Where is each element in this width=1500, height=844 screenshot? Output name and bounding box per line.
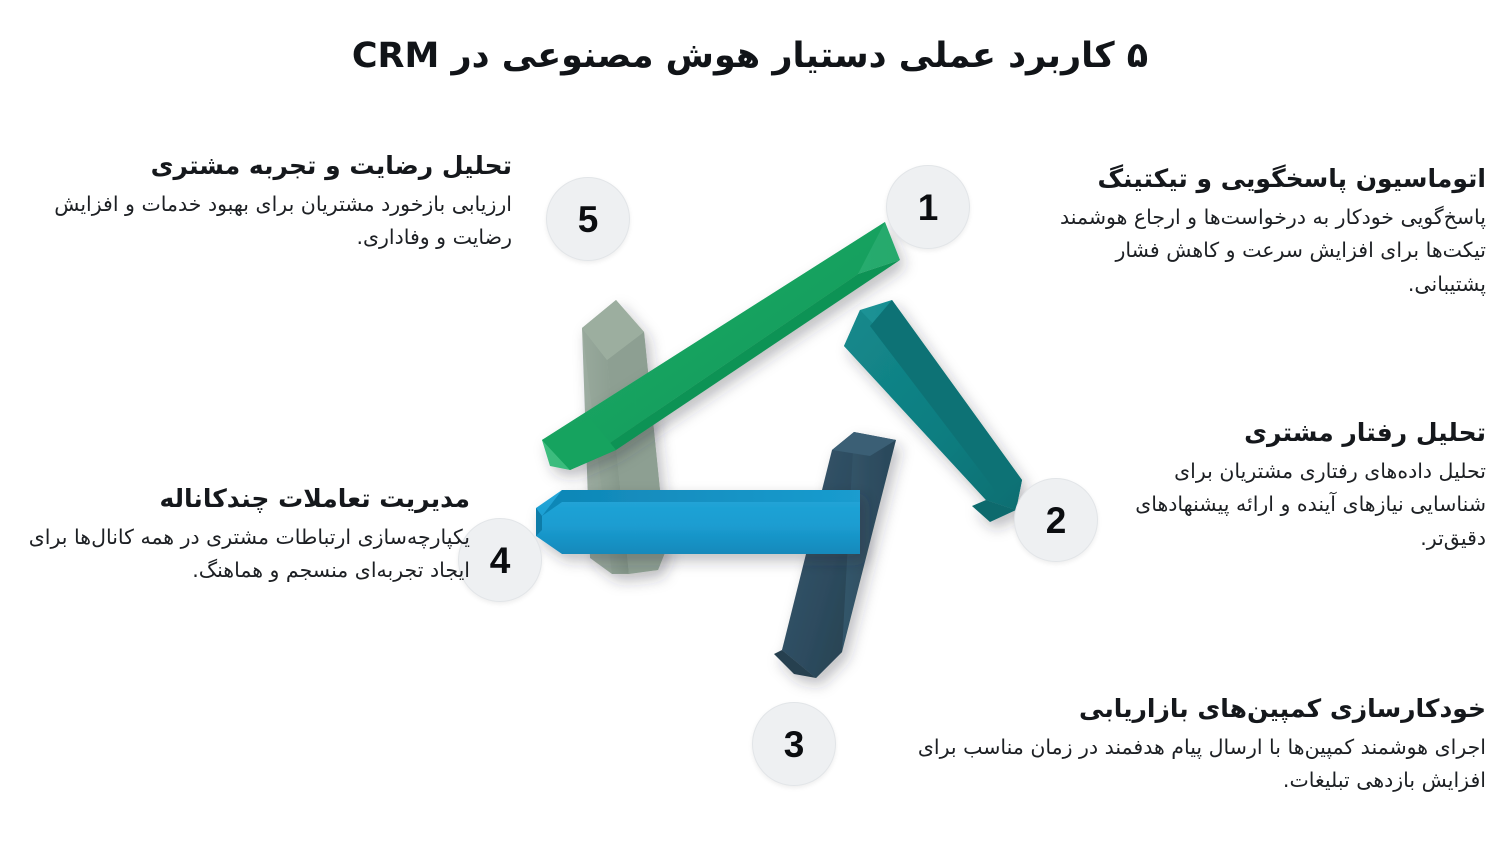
step-badge-5[interactable]: 5: [546, 177, 630, 261]
item-3-heading: خودکارسازی کمپین‌های بازاریابی: [898, 693, 1486, 724]
item-1-heading: اتوماسیون پاسخگویی و تیکتینگ: [1034, 163, 1486, 194]
item-4-body: یکپارچه‌سازی ارتباطات مشتری در همه کانال…: [20, 521, 470, 587]
step-badge-2[interactable]: 2: [1014, 478, 1098, 562]
item-1-block: اتوماسیون پاسخگویی و تیکتینگ پاسخ‌گویی خ…: [1034, 163, 1486, 301]
infographic-canvas: ۵ کاربرد عملی دستیار هوش مصنوعی در CRM: [0, 0, 1500, 844]
item-4-heading: مدیریت تعاملات چندکاناله: [20, 483, 470, 514]
item-1-body: پاسخ‌گویی خودکار به درخواست‌ها و ارجاع ه…: [1034, 201, 1486, 301]
item-2-body: تحلیل داده‌های رفتاری مشتریان برای شناسا…: [1094, 455, 1486, 555]
arrow-3-navy: [774, 432, 896, 678]
step-badge-3[interactable]: 3: [752, 702, 836, 786]
item-3-body: اجرای هوشمند کمپین‌ها با ارسال پیام هدفم…: [898, 731, 1486, 797]
item-5-block: تحلیل رضایت و تجربه مشتری ارزیابی بازخور…: [20, 150, 512, 255]
item-2-block: تحلیل رفتار مشتری تحلیل داده‌های رفتاری …: [1094, 417, 1486, 555]
pinwheel-graphic: [430, 150, 1090, 710]
step-badge-1[interactable]: 1: [886, 165, 970, 249]
item-5-heading: تحلیل رضایت و تجربه مشتری: [20, 150, 512, 181]
item-2-heading: تحلیل رفتار مشتری: [1094, 417, 1486, 448]
item-4-block: مدیریت تعاملات چندکاناله یکپارچه‌سازی ار…: [20, 483, 470, 588]
page-title: ۵ کاربرد عملی دستیار هوش مصنوعی در CRM: [0, 36, 1500, 76]
arrow-4-blue: [536, 490, 860, 554]
step-badge-4[interactable]: 4: [458, 518, 542, 602]
item-3-block: خودکارسازی کمپین‌های بازاریابی اجرای هوش…: [898, 693, 1486, 798]
item-5-body: ارزیابی بازخورد مشتریان برای بهبود خدمات…: [20, 188, 512, 254]
